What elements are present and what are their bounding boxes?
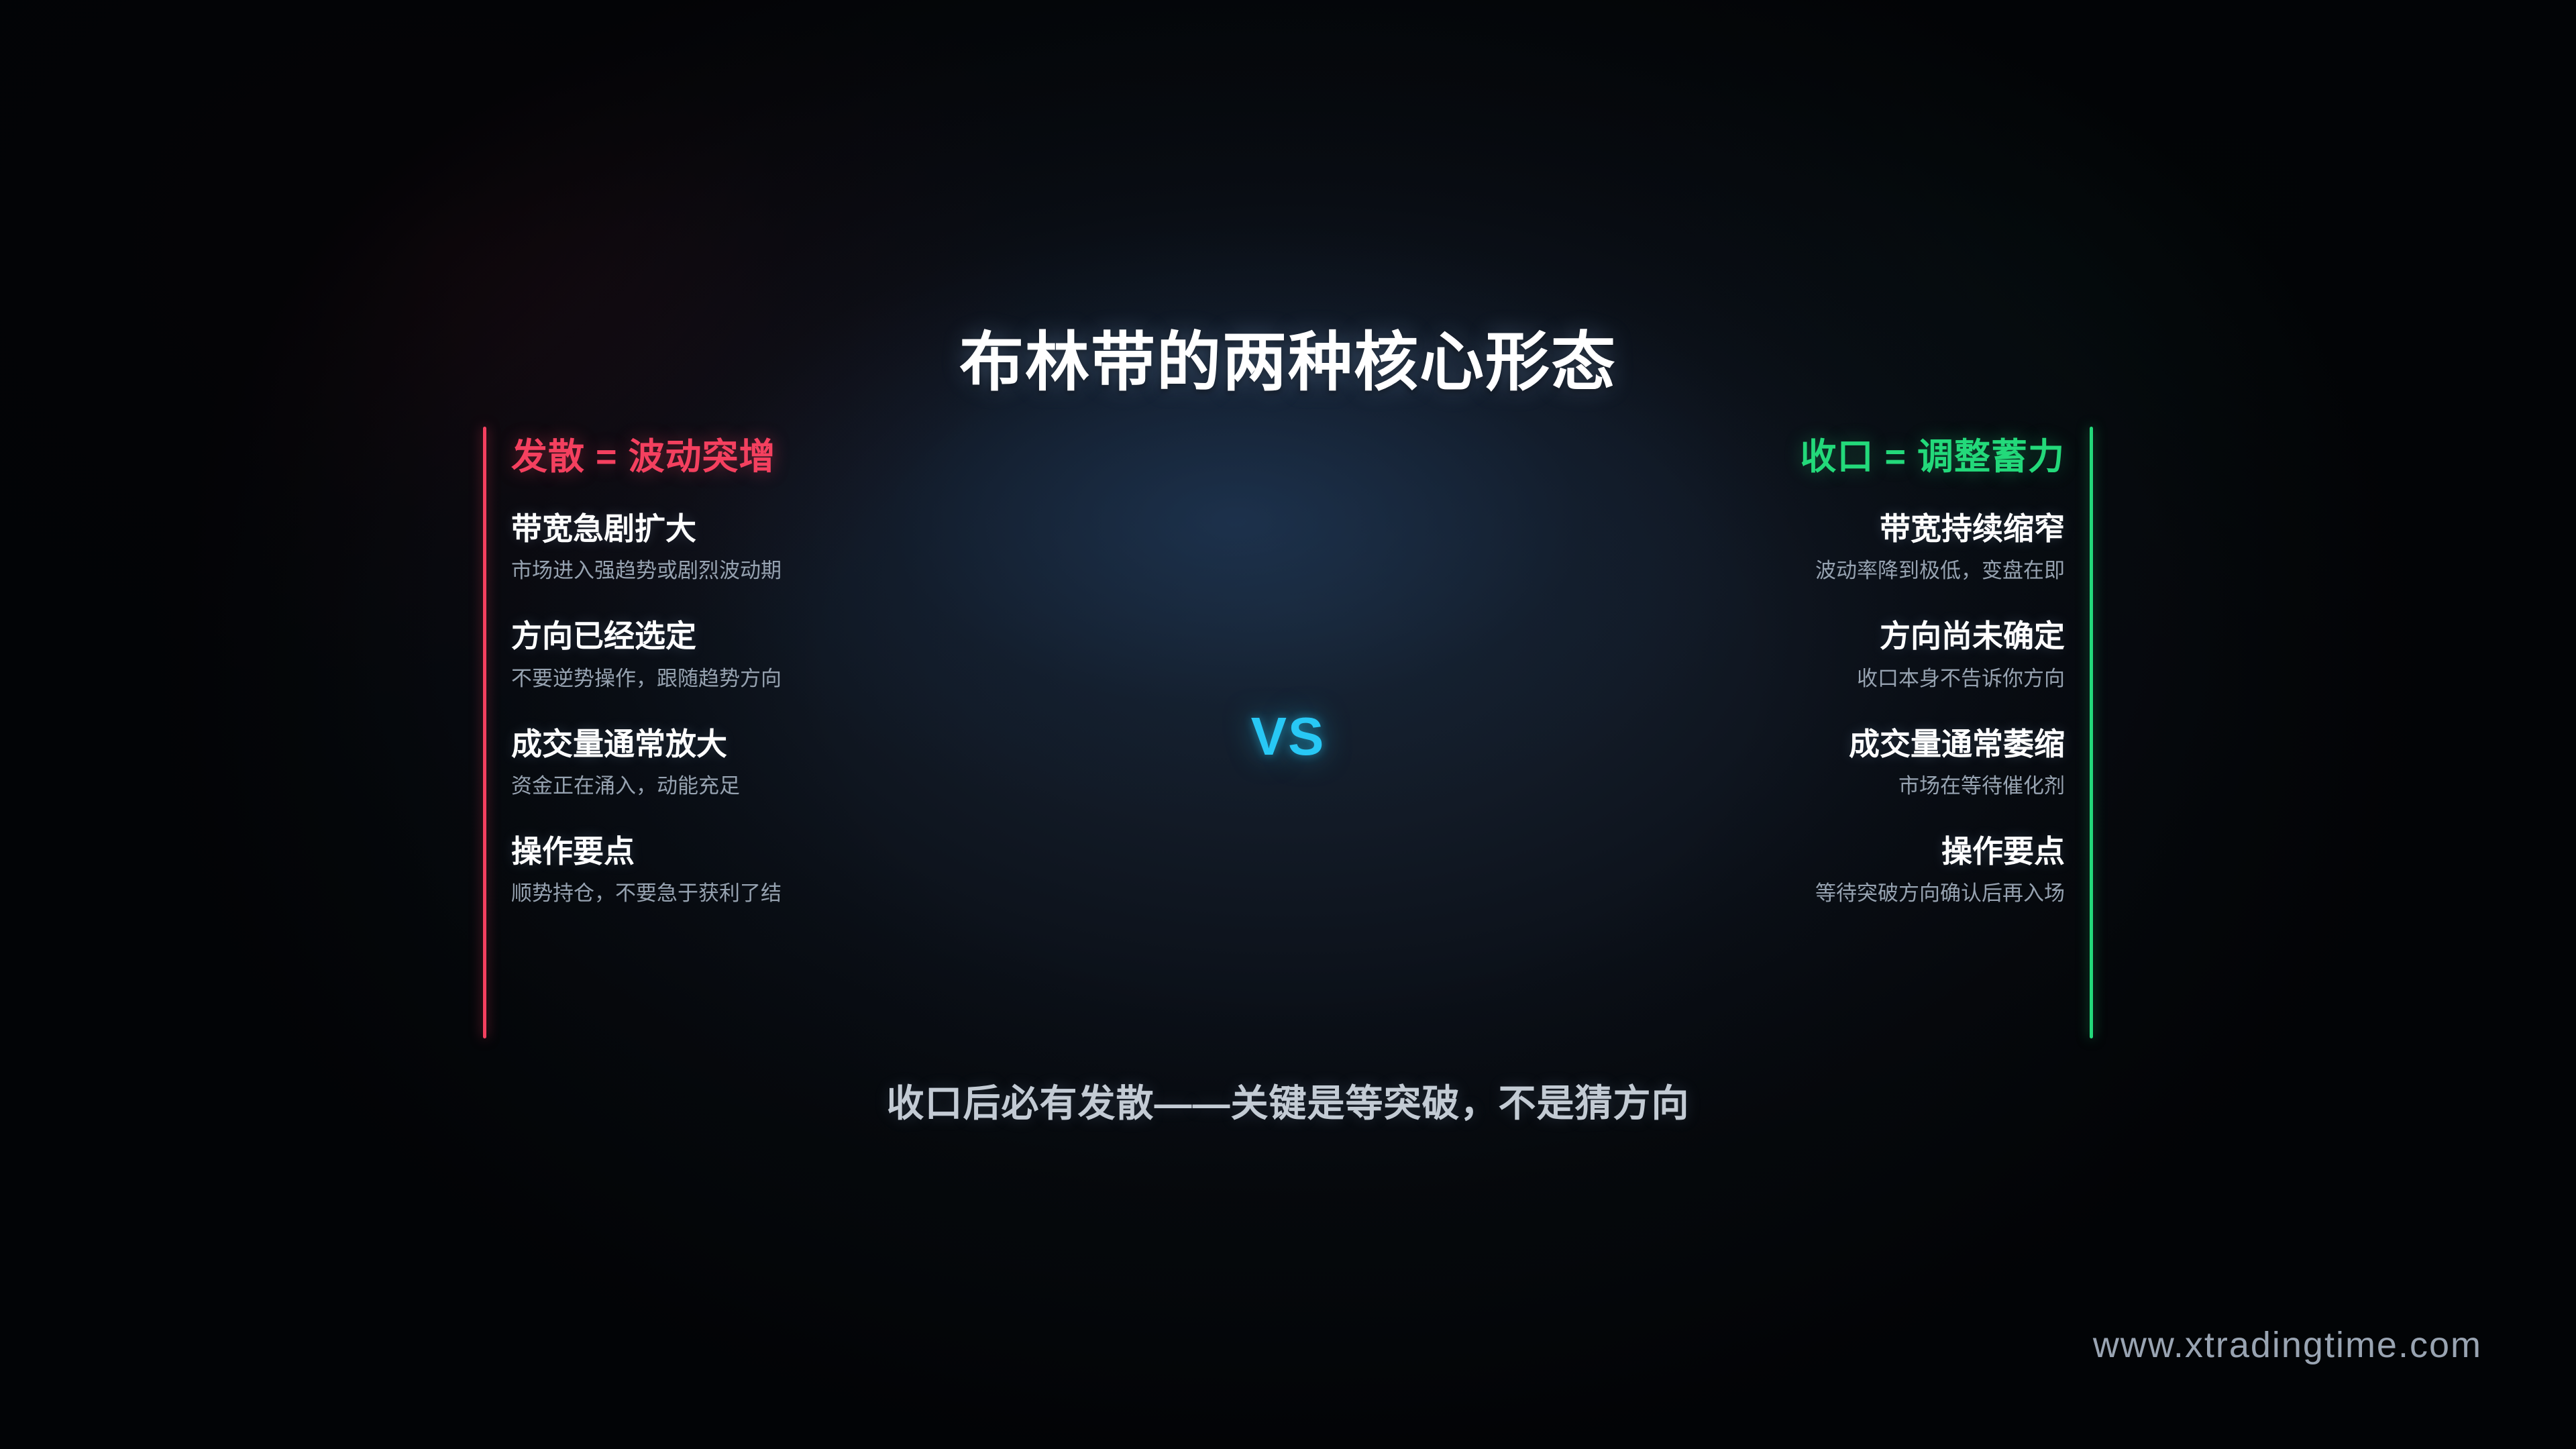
right-column-header: 收口 = 调整蓄力 [1368,427,2065,475]
page-title: 布林带的两种核心形态 [0,310,2576,403]
right-item-title: 方向尚未确定 [1368,620,2065,652]
left-item-desc: 资金正在涌入，动能充足 [511,775,1207,798]
left-column-header: 发散 = 波动突增 [511,427,1207,475]
left-item-title: 操作要点 [511,835,1207,867]
right-list-item: 操作要点 等待突破方向确认后再入场 [1368,835,2065,905]
slide-content: 布林带的两种核心形态 发散 = 波动突增 带宽急剧扩大 市场进入强趋势或剧烈波动… [0,0,2576,1449]
versus-badge: VS [0,706,2576,767]
left-item-desc: 顺势持仓，不要急于获利了结 [511,882,1207,905]
summary-tagline: 收口后必有发散——关键是等突破，不是猜方向 [0,1073,2576,1128]
right-item-desc: 市场在等待催化剂 [1368,775,2065,798]
right-list-item: 带宽持续缩窄 波动率降到极低，变盘在即 [1368,513,2065,582]
left-list-item: 方向已经选定 不要逆势操作，跟随趋势方向 [511,620,1207,690]
left-item-title: 方向已经选定 [511,620,1207,652]
right-item-title: 操作要点 [1368,835,2065,867]
right-list-item: 方向尚未确定 收口本身不告诉你方向 [1368,620,2065,690]
left-list-item: 操作要点 顺势持仓，不要急于获利了结 [511,835,1207,905]
right-item-desc: 等待突破方向确认后再入场 [1368,882,2065,905]
watermark-url: www.xtradingtime.com [2093,1324,2482,1366]
left-item-desc: 不要逆势操作，跟随趋势方向 [511,667,1207,690]
right-item-title: 带宽持续缩窄 [1368,513,2065,545]
right-item-desc: 收口本身不告诉你方向 [1368,667,2065,690]
left-list-item: 带宽急剧扩大 市场进入强趋势或剧烈波动期 [511,513,1207,582]
left-item-title: 带宽急剧扩大 [511,513,1207,545]
slide-root: 布林带的两种核心形态 发散 = 波动突增 带宽急剧扩大 市场进入强趋势或剧烈波动… [0,0,2576,1449]
left-item-desc: 市场进入强趋势或剧烈波动期 [511,559,1207,582]
right-item-desc: 波动率降到极低，变盘在即 [1368,559,2065,582]
